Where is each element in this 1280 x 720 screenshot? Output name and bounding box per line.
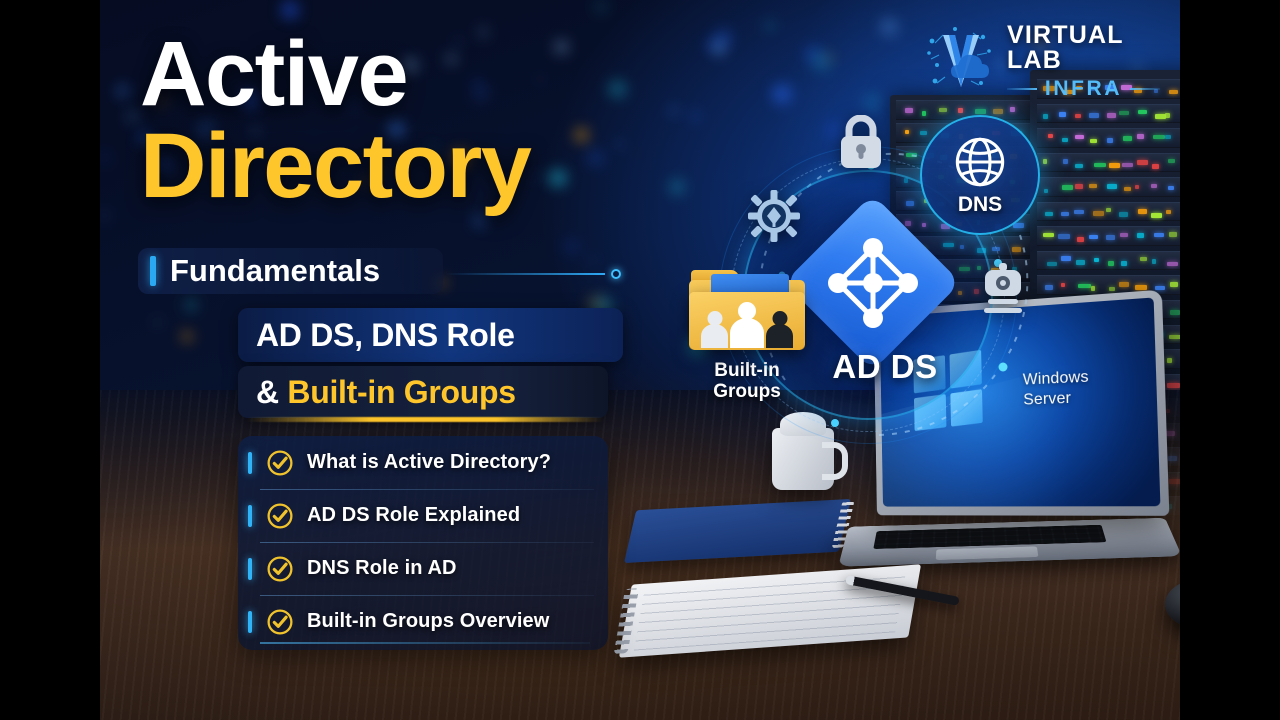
laptop-keyboard	[873, 525, 1106, 549]
badge-role: AD DS, DNS Role	[238, 308, 623, 362]
brand-logo[interactable]: VIRTUAL LAB INFRA	[925, 22, 1160, 100]
ad-ds-network-diamond-icon	[808, 218, 938, 348]
bokeh-light	[880, 18, 898, 36]
server-led	[1107, 184, 1117, 189]
left-text-panel: Active Directory Fundamentals AD DS, DNS…	[100, 0, 620, 720]
folder-users-icon	[689, 270, 805, 352]
server-led	[1167, 262, 1178, 267]
server-led	[1119, 212, 1128, 217]
logo-line2: INFRA	[1037, 78, 1130, 99]
checklist-item-1[interactable]: AD DS Role Explained	[238, 489, 608, 542]
checklist-item-0[interactable]: What is Active Directory?	[238, 436, 608, 489]
virtual-lab-infra-v-cloud-icon	[925, 25, 999, 97]
check-circle-icon	[266, 502, 294, 530]
logo-rule-left	[1007, 88, 1037, 90]
server-led	[1120, 233, 1128, 238]
badge-groups: & Built-in Groups	[238, 366, 608, 418]
logo-line2-row: INFRA	[1007, 78, 1160, 99]
server-led	[1165, 113, 1169, 118]
page-title-line1: Active	[140, 28, 407, 120]
gear-security-icon	[748, 190, 800, 242]
checklist-item-label: DNS Role in AD	[307, 557, 457, 580]
built-in-groups-label: Built-in Groups	[681, 360, 813, 403]
padlock-icon	[835, 115, 887, 171]
badge-groups-prefix: &	[256, 374, 287, 410]
server-led	[1152, 164, 1159, 169]
checklist-accent-bar	[248, 452, 252, 474]
server-led	[1165, 135, 1171, 140]
globe-icon	[951, 133, 1009, 191]
connector-line	[445, 273, 605, 275]
checklist-item-label: AD DS Role Explained	[307, 504, 520, 527]
server-led	[1135, 185, 1139, 190]
server-led	[1106, 235, 1114, 240]
built-in-groups-node: Built-in Groups	[681, 270, 813, 415]
badge-fundamentals: Fundamentals	[138, 248, 443, 294]
person-silhouette-center	[730, 318, 764, 348]
logo-line1: VIRTUAL LAB	[1007, 23, 1160, 73]
server-led	[1138, 209, 1147, 214]
gear-node	[748, 190, 800, 242]
laptop-trackpad	[936, 547, 1039, 560]
person-silhouette-right	[766, 324, 793, 348]
badge-accent-bar	[150, 256, 156, 286]
screenshot-root: Windows Server	[0, 0, 1280, 720]
server-led	[1155, 114, 1166, 119]
check-circle-icon	[266, 449, 294, 477]
server-led	[1109, 163, 1121, 168]
server-led	[1138, 110, 1146, 115]
content-frame: Windows Server	[100, 0, 1180, 720]
server-icon	[980, 263, 1026, 317]
checklist-item-label: Built-in Groups Overview	[307, 610, 549, 633]
server-led	[1094, 258, 1099, 263]
checklist-item-2[interactable]: DNS Role in AD	[238, 542, 608, 595]
server-led	[1109, 287, 1115, 292]
server-led	[1094, 163, 1106, 168]
folder-front	[689, 292, 805, 350]
server-led	[1151, 184, 1158, 189]
server-led	[1155, 286, 1165, 291]
laptop-base	[838, 518, 1180, 567]
check-circle-icon	[266, 555, 294, 583]
dns-node: DNS	[920, 115, 1040, 235]
server-led	[1119, 282, 1129, 287]
badge-role-label: AD DS, DNS Role	[256, 317, 515, 354]
server-led	[1107, 113, 1116, 118]
padlock-node	[835, 115, 887, 171]
dns-label: DNS	[958, 193, 1002, 217]
server-led	[1168, 186, 1174, 191]
server-led	[1170, 282, 1178, 287]
connector-endpoint-dot	[611, 269, 621, 279]
server-led	[1137, 160, 1148, 165]
server-led	[1137, 233, 1144, 238]
server-led	[1140, 257, 1147, 262]
server-led	[1122, 163, 1134, 168]
server-led	[1106, 208, 1111, 213]
badge-groups-highlight: Built-in Groups	[287, 374, 515, 410]
server-led	[1153, 135, 1165, 140]
checklist-accent-bar	[248, 558, 252, 580]
check-circle-icon	[266, 608, 294, 636]
checklist-panel: What is Active Directory? AD DS Role Exp…	[238, 436, 608, 650]
checklist-accent-bar	[248, 611, 252, 633]
server-led	[1119, 111, 1129, 116]
groups-label-line1: Built-in	[681, 360, 813, 381]
checklist-bottom-glow	[260, 642, 590, 644]
checklist-accent-bar	[248, 505, 252, 527]
ad-ds-diagram: AD DS DNS	[675, 105, 1095, 485]
server-led	[1107, 138, 1114, 143]
server-led	[1124, 187, 1131, 192]
server-led	[1108, 261, 1114, 266]
server-led	[1169, 232, 1177, 237]
server-led	[1137, 134, 1144, 139]
server-led	[1123, 136, 1132, 141]
server-led	[1135, 285, 1147, 290]
person-silhouette-left	[701, 324, 728, 348]
checklist-item-3[interactable]: Built-in Groups Overview	[238, 595, 608, 648]
page-title-line2: Directory	[140, 120, 530, 212]
server-led	[1168, 159, 1174, 164]
logo-wordmark: VIRTUAL LAB INFRA	[1007, 23, 1160, 99]
bokeh-light	[772, 84, 792, 104]
server-led	[1121, 261, 1127, 266]
server-led	[1151, 213, 1162, 218]
server-led	[1169, 90, 1178, 95]
groups-label-line2: Groups	[681, 381, 813, 402]
server-led	[1154, 233, 1164, 238]
badge-fundamentals-label: Fundamentals	[170, 253, 380, 289]
server-led	[1152, 259, 1157, 264]
badge-groups-label: & Built-in Groups	[256, 374, 516, 411]
server-led	[1166, 210, 1171, 215]
server-node	[980, 263, 1026, 317]
badge-connector-line	[445, 269, 623, 279]
logo-rule-right	[1130, 88, 1160, 90]
checklist-item-label: What is Active Directory?	[307, 451, 551, 474]
badge-groups-underline	[246, 417, 604, 422]
